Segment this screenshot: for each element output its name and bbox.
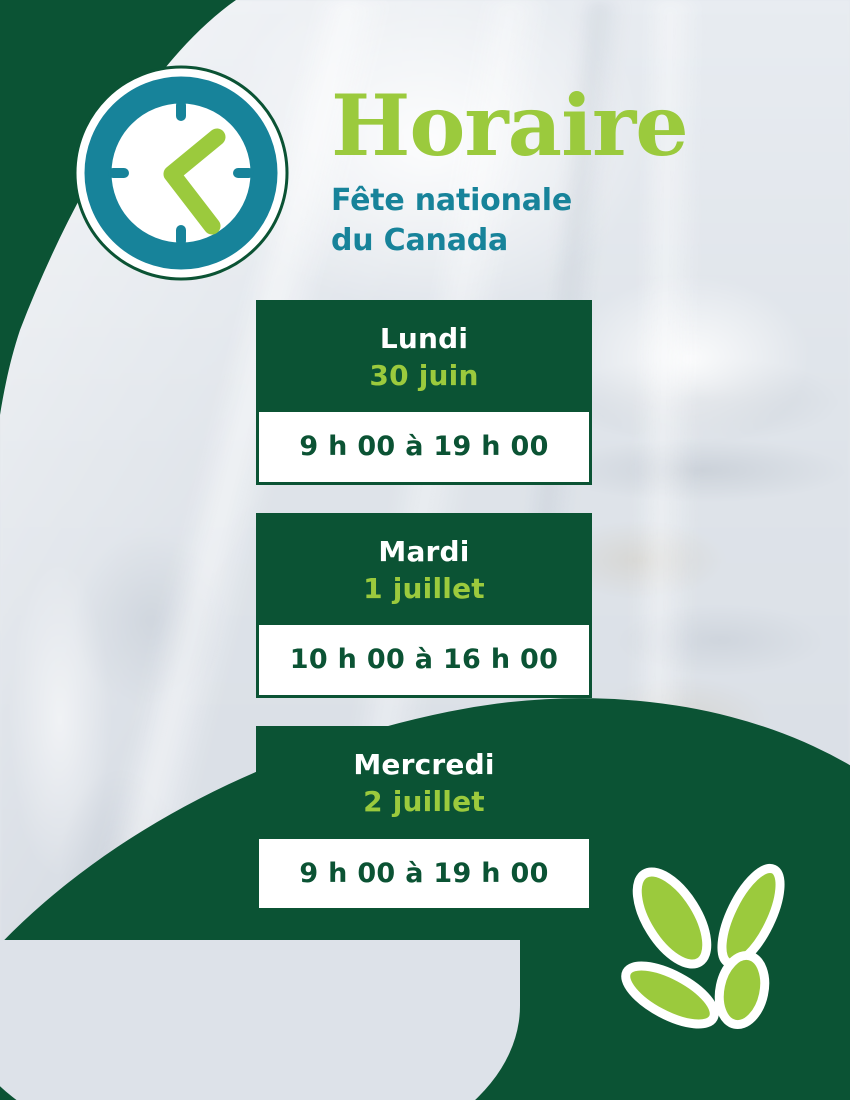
page-subtitle: Fête nationale du Canada xyxy=(331,181,761,261)
clock-icon xyxy=(72,64,290,282)
schedule-card-body: 9 h 00 à 19 h 00 xyxy=(256,839,592,912)
poster-heading: Horaire Fête nationale du Canada xyxy=(331,86,761,260)
schedule-card-hours: 10 h 00 à 16 h 00 xyxy=(267,645,581,675)
schedule-card-list: Lundi 30 juin 9 h 00 à 19 h 00 Mardi 1 j… xyxy=(256,300,592,911)
subtitle-line-2: du Canada xyxy=(331,221,761,261)
schedule-card-header: Mercredi 2 juillet xyxy=(256,726,592,838)
schedule-card-date: 30 juin xyxy=(266,359,582,393)
schedule-card-header: Mardi 1 juillet xyxy=(256,513,592,625)
bottom-left-light-notch xyxy=(0,940,520,1100)
poster-canvas: Horaire Fête nationale du Canada Lundi 3… xyxy=(0,0,850,1100)
schedule-card-hours: 9 h 00 à 19 h 00 xyxy=(267,432,581,462)
schedule-card-body: 10 h 00 à 16 h 00 xyxy=(256,625,592,698)
schedule-card-day: Mercredi xyxy=(266,750,582,781)
schedule-card-body: 9 h 00 à 19 h 00 xyxy=(256,412,592,485)
page-title: Horaire xyxy=(331,86,761,167)
schedule-card-date: 2 juillet xyxy=(266,785,582,819)
schedule-card-date: 1 juillet xyxy=(266,572,582,606)
subtitle-line-1: Fête nationale xyxy=(331,181,761,221)
schedule-card: Mercredi 2 juillet 9 h 00 à 19 h 00 xyxy=(256,726,592,911)
schedule-card: Mardi 1 juillet 10 h 00 à 16 h 00 xyxy=(256,513,592,698)
butterfly-logo-icon xyxy=(612,856,812,1056)
schedule-card-day: Lundi xyxy=(266,324,582,355)
schedule-card-day: Mardi xyxy=(266,537,582,568)
schedule-card: Lundi 30 juin 9 h 00 à 19 h 00 xyxy=(256,300,592,485)
schedule-card-header: Lundi 30 juin xyxy=(256,300,592,412)
schedule-card-hours: 9 h 00 à 19 h 00 xyxy=(267,859,581,889)
